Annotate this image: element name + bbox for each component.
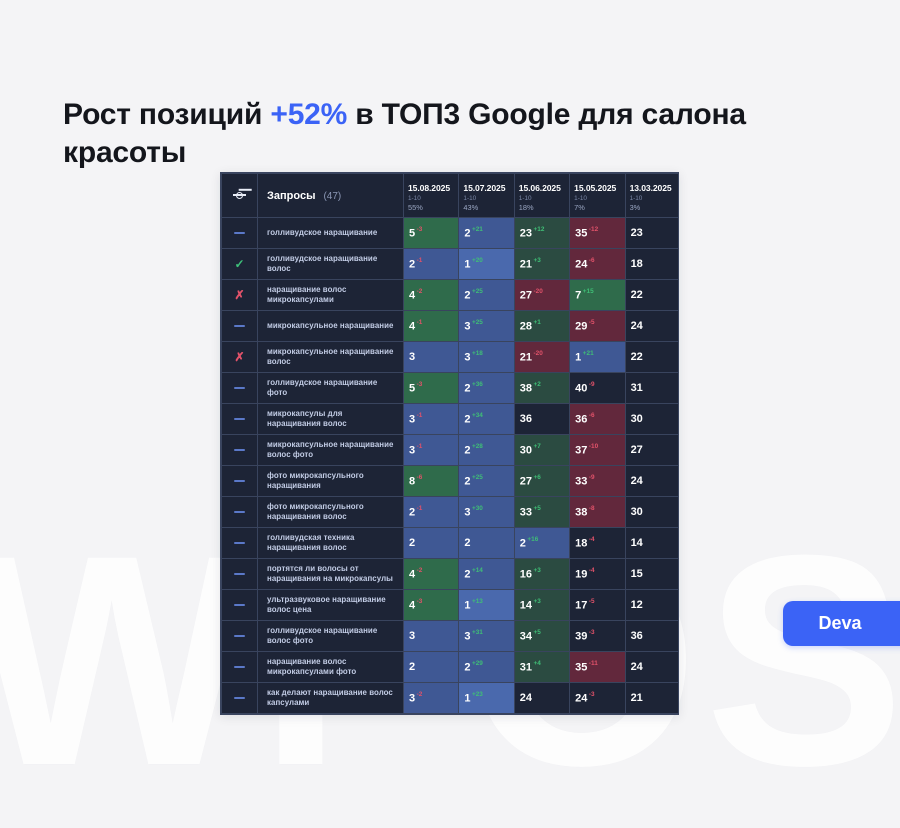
page-title: Рост позиций +52% в ТОП3 Google для сало… (63, 96, 803, 171)
keyword-cell[interactable]: как делают наращивание волос капсулами (258, 683, 404, 714)
position-value: 2 (464, 227, 470, 239)
position-cell[interactable]: 2+29 (459, 652, 514, 683)
keyword-cell[interactable]: микрокапсульное наращивание (258, 311, 404, 342)
position-delta: +1 (534, 319, 541, 326)
keywords-column-header[interactable]: Запросы(47) (258, 174, 404, 218)
date-column-range: 1-10 (630, 195, 679, 202)
deva-cta-button[interactable]: Deva (783, 601, 900, 646)
date-column-percent: 43% (463, 203, 513, 212)
date-column-range: 1-10 (463, 195, 513, 202)
position-value: 31 (631, 382, 643, 394)
position-value: 14 (631, 537, 643, 549)
position-value: 4 (409, 599, 415, 611)
date-column-percent: 55% (408, 203, 458, 212)
position-cell[interactable]: 7+15 (570, 280, 625, 311)
position-value: 3 (464, 630, 470, 642)
date-column-percent: 18% (519, 203, 569, 212)
date-column-date: 15.06.2025 (519, 183, 569, 193)
table-row[interactable]: голливудское наращивание фото5-32+3638+2… (222, 373, 680, 404)
position-delta: +25 (472, 319, 483, 326)
position-value: 3 (464, 320, 470, 332)
position-value: 22 (631, 289, 643, 301)
position-delta: +25 (472, 474, 483, 481)
position-value: 22 (631, 351, 643, 363)
position-value: 28 (520, 320, 532, 332)
status-dash-icon[interactable] (234, 325, 245, 327)
position-delta: +31 (472, 629, 483, 636)
position-delta: +25 (472, 288, 483, 295)
position-cell[interactable]: 24 (514, 683, 569, 714)
position-delta: -9 (589, 381, 595, 388)
row-status-cell[interactable]: ✗ (222, 342, 258, 373)
position-value: 2 (464, 661, 470, 673)
position-cell[interactable]: 3-1 (404, 435, 459, 466)
header-row: Запросы(47) 15.08.20251-1055%15.07.20251… (222, 174, 680, 218)
position-value: 3 (464, 506, 470, 518)
position-cell[interactable]: 40-9 (570, 373, 625, 404)
table-row[interactable]: фото микрокапсульного наращивания8-62+25… (222, 466, 680, 497)
position-cell[interactable]: 3+18 (459, 342, 514, 373)
date-column-header[interactable]: 13.03.20251-103% (625, 174, 679, 218)
position-delta: -8 (589, 505, 595, 512)
position-delta: -12 (589, 226, 598, 233)
position-cell[interactable]: 36-6 (570, 404, 625, 435)
position-cell[interactable]: 22 (625, 342, 679, 373)
position-value: 1 (464, 692, 470, 704)
position-value: 30 (631, 506, 643, 518)
position-cell[interactable]: 27+6 (514, 466, 569, 497)
row-status-cell[interactable]: ✗ (222, 280, 258, 311)
position-value: 34 (520, 630, 532, 642)
position-cell[interactable]: 16+3 (514, 559, 569, 590)
position-value: 5 (409, 227, 415, 239)
position-cell[interactable]: 2+25 (459, 280, 514, 311)
position-delta: -2 (417, 691, 423, 698)
position-cell[interactable]: 2-1 (404, 497, 459, 528)
position-value: 15 (631, 568, 643, 580)
position-value: 5 (409, 382, 415, 394)
position-value: 14 (520, 599, 532, 611)
keyword-cell[interactable]: голливудское наращивание волос фото (258, 621, 404, 652)
keyword-cell[interactable]: портятся ли волосы от наращивания на мик… (258, 559, 404, 590)
position-cell[interactable]: 29-5 (570, 311, 625, 342)
position-cell[interactable]: 2+36 (459, 373, 514, 404)
status-dash-icon[interactable] (234, 387, 245, 389)
position-value: 3 (409, 630, 415, 642)
table-row[interactable]: ✓голливудское наращивание волос2-11+2021… (222, 249, 680, 280)
position-cell[interactable]: 24-3 (570, 683, 625, 714)
position-delta: -1 (417, 257, 423, 264)
position-value: 3 (464, 351, 470, 363)
position-cell[interactable]: 2-1 (404, 249, 459, 280)
position-value: 27 (520, 475, 532, 487)
position-cell[interactable]: 8-6 (404, 466, 459, 497)
position-cell[interactable]: 38+2 (514, 373, 569, 404)
position-delta: +13 (472, 598, 483, 605)
position-cell[interactable]: 2+21 (459, 218, 514, 249)
position-delta: +29 (472, 660, 483, 667)
position-cell[interactable]: 14 (625, 528, 679, 559)
position-cell[interactable]: 2+14 (459, 559, 514, 590)
date-column-date: 15.08.2025 (408, 183, 458, 193)
status-dash-icon[interactable] (234, 232, 245, 234)
status-dash-icon[interactable] (234, 604, 245, 606)
table-row[interactable]: голливудское наращивание5-32+2123+1235-1… (222, 218, 680, 249)
position-cell[interactable]: 3+31 (459, 621, 514, 652)
position-delta: -5 (589, 319, 595, 326)
status-check-icon[interactable]: ✓ (234, 258, 244, 270)
keyword-cell[interactable]: голливудское наращивание фото (258, 373, 404, 404)
position-cell[interactable]: 3-2 (404, 683, 459, 714)
position-value: 2 (409, 258, 415, 270)
position-value: 1 (575, 351, 581, 363)
position-value: 2 (464, 444, 470, 456)
position-cell[interactable]: 17-5 (570, 590, 625, 621)
position-delta: +6 (534, 474, 541, 481)
position-cell[interactable]: 31 (625, 373, 679, 404)
position-cell[interactable]: 4-1 (404, 311, 459, 342)
row-status-cell[interactable] (222, 559, 258, 590)
position-cell[interactable]: 36 (514, 404, 569, 435)
position-cell[interactable]: 36 (625, 621, 679, 652)
position-value: 24 (575, 258, 587, 270)
position-value: 1 (464, 599, 470, 611)
position-cell[interactable]: 2+28 (459, 435, 514, 466)
position-delta: +3 (534, 257, 541, 264)
position-delta: -1 (417, 443, 423, 450)
keyword-cell[interactable]: наращивание волос микрокапсулами (258, 280, 404, 311)
position-value: 3 (409, 413, 415, 425)
position-delta: +21 (472, 226, 483, 233)
position-cell[interactable]: 1+20 (459, 249, 514, 280)
position-delta: -6 (417, 474, 423, 481)
position-cell[interactable]: 37-10 (570, 435, 625, 466)
position-value: 4 (409, 320, 415, 332)
position-delta: +18 (472, 350, 483, 357)
position-delta: +3 (534, 598, 541, 605)
position-delta: -3 (589, 629, 595, 636)
position-value: 33 (520, 506, 532, 518)
status-dash-icon[interactable] (234, 542, 245, 544)
row-status-cell[interactable] (222, 590, 258, 621)
position-delta: -10 (589, 443, 598, 450)
position-value: 21 (520, 351, 532, 363)
position-cell[interactable]: 22 (625, 280, 679, 311)
position-value: 38 (520, 382, 532, 394)
position-value: 35 (575, 227, 587, 239)
position-value: 2 (464, 413, 470, 425)
position-cell[interactable]: 39-3 (570, 621, 625, 652)
keyword-cell[interactable]: фото микрокапсульного наращивания волос (258, 497, 404, 528)
position-cell[interactable]: 21 (625, 683, 679, 714)
position-value: 24 (631, 475, 643, 487)
status-column-header (222, 174, 258, 218)
row-status-cell[interactable] (222, 435, 258, 466)
position-delta: +21 (583, 350, 594, 357)
position-cell[interactable]: 19-4 (570, 559, 625, 590)
date-column-date: 15.07.2025 (463, 183, 513, 193)
keywords-header-label: Запросы (267, 190, 315, 202)
position-delta: -2 (417, 567, 423, 574)
row-status-cell[interactable] (222, 528, 258, 559)
keyword-cell[interactable]: фото микрокапсульного наращивания (258, 466, 404, 497)
status-dash-icon[interactable] (234, 697, 245, 699)
keyword-cell[interactable]: голливудское наращивание волос (258, 249, 404, 280)
position-cell[interactable]: 23+12 (514, 218, 569, 249)
position-delta: -4 (589, 567, 595, 574)
table-row[interactable]: ✗наращивание волос микрокапсулами4-22+25… (222, 280, 680, 311)
position-cell[interactable]: 2 (404, 652, 459, 683)
date-column-range: 1-10 (519, 195, 569, 202)
row-status-cell[interactable] (222, 404, 258, 435)
date-column-header[interactable]: 15.05.20251-107% (570, 174, 625, 218)
position-value: 27 (520, 289, 532, 301)
table-row[interactable]: наращивание волос микрокапсулами фото22+… (222, 652, 680, 683)
headline-accent-percent: +52% (270, 98, 347, 131)
position-cell[interactable]: 3-1 (404, 404, 459, 435)
date-column-header[interactable]: 15.08.20251-1055% (404, 174, 459, 218)
position-cell[interactable]: 3+25 (459, 311, 514, 342)
position-cell[interactable]: 2 (459, 528, 514, 559)
position-cell[interactable]: 30 (625, 404, 679, 435)
position-cell[interactable]: 35-12 (570, 218, 625, 249)
position-cell[interactable]: 5-3 (404, 373, 459, 404)
position-value: 16 (520, 568, 532, 580)
position-value: 2 (520, 537, 526, 549)
keywords-count: (47) (323, 191, 341, 202)
position-cell[interactable]: 3+30 (459, 497, 514, 528)
position-cell[interactable]: 1+23 (459, 683, 514, 714)
status-cross-icon[interactable]: ✗ (234, 289, 244, 301)
row-status-cell[interactable] (222, 683, 258, 714)
position-delta: +15 (583, 288, 594, 295)
position-value: 7 (575, 289, 581, 301)
position-delta: -1 (417, 319, 423, 326)
date-column-header[interactable]: 15.07.20251-1043% (459, 174, 514, 218)
date-column-range: 1-10 (408, 195, 458, 202)
position-value: 4 (409, 568, 415, 580)
status-dash-icon[interactable] (234, 511, 245, 513)
position-cell[interactable]: 34+5 (514, 621, 569, 652)
position-cell[interactable]: 33-9 (570, 466, 625, 497)
table-row[interactable]: голливудское наращивание волос фото33+31… (222, 621, 680, 652)
row-status-cell[interactable]: ✓ (222, 249, 258, 280)
position-cell[interactable]: 14+3 (514, 590, 569, 621)
position-delta: -6 (589, 257, 595, 264)
position-delta: +12 (534, 226, 545, 233)
keyword-cell[interactable]: голливудское наращивание (258, 218, 404, 249)
position-value: 2 (409, 537, 415, 549)
position-value: 2 (464, 475, 470, 487)
position-delta: -3 (417, 226, 423, 233)
keyword-cell[interactable]: микрокапсульное наращивание волос фото (258, 435, 404, 466)
position-delta: +20 (472, 257, 483, 264)
table-row[interactable]: фото микрокапсульного наращивания волос2… (222, 497, 680, 528)
position-delta: +5 (534, 505, 541, 512)
position-value: 37 (575, 444, 587, 456)
position-cell[interactable]: 2+25 (459, 466, 514, 497)
position-value: 3 (409, 692, 415, 704)
position-cell[interactable]: 27 (625, 435, 679, 466)
position-value: 31 (520, 661, 532, 673)
position-cell[interactable]: 23 (625, 218, 679, 249)
position-cell[interactable]: 31+4 (514, 652, 569, 683)
status-dash-icon[interactable] (234, 480, 245, 482)
position-delta: -1 (417, 505, 423, 512)
position-delta: -20 (534, 350, 543, 357)
crosshair-icon (233, 189, 246, 202)
position-value: 2 (464, 382, 470, 394)
position-cell[interactable]: 24 (625, 311, 679, 342)
position-value: 2 (464, 537, 470, 549)
row-status-cell[interactable] (222, 373, 258, 404)
position-delta: -5 (589, 598, 595, 605)
date-column-range: 1-10 (574, 195, 624, 202)
position-value: 24 (520, 692, 532, 704)
position-delta: -2 (417, 288, 423, 295)
table-row[interactable]: микрокапсульное наращивание4-13+2528+129… (222, 311, 680, 342)
position-value: 12 (631, 599, 643, 611)
position-value: 29 (575, 320, 587, 332)
position-value: 17 (575, 599, 587, 611)
status-dash-icon[interactable] (234, 573, 245, 575)
position-delta: -6 (589, 412, 595, 419)
position-cell[interactable]: 24 (625, 466, 679, 497)
position-cell[interactable]: 4-3 (404, 590, 459, 621)
position-value: 36 (631, 630, 643, 642)
position-value: 27 (631, 444, 643, 456)
position-cell[interactable]: 3 (404, 621, 459, 652)
position-value: 40 (575, 382, 587, 394)
status-dash-icon[interactable] (234, 666, 245, 668)
table-row[interactable]: как делают наращивание волос капсулами3-… (222, 683, 680, 714)
position-cell[interactable]: 35-11 (570, 652, 625, 683)
rankings-table-container: Запросы(47) 15.08.20251-1055%15.07.20251… (220, 172, 679, 715)
row-status-cell[interactable] (222, 466, 258, 497)
position-value: 36 (575, 413, 587, 425)
position-value: 30 (520, 444, 532, 456)
position-value: 24 (631, 661, 643, 673)
position-cell[interactable]: 28+1 (514, 311, 569, 342)
rankings-table: Запросы(47) 15.08.20251-1055%15.07.20251… (221, 173, 679, 714)
position-delta: -3 (589, 691, 595, 698)
position-delta: -4 (589, 536, 595, 543)
position-cell[interactable]: 24 (625, 652, 679, 683)
status-cross-icon[interactable]: ✗ (234, 351, 244, 363)
table-body: голливудское наращивание5-32+2123+1235-1… (222, 218, 680, 714)
position-cell[interactable]: 38-8 (570, 497, 625, 528)
position-cell[interactable]: 24-6 (570, 249, 625, 280)
position-cell[interactable]: 27-20 (514, 280, 569, 311)
position-cell[interactable]: 18-4 (570, 528, 625, 559)
table-row[interactable]: ✗микрокапсульное наращивание волос33+182… (222, 342, 680, 373)
position-cell[interactable]: 33+5 (514, 497, 569, 528)
position-delta: -11 (589, 660, 598, 667)
table-row[interactable]: голливудская техника наращивания волос22… (222, 528, 680, 559)
table-header: Запросы(47) 15.08.20251-1055%15.07.20251… (222, 174, 680, 218)
position-cell[interactable]: 4-2 (404, 280, 459, 311)
position-delta: +7 (534, 443, 541, 450)
position-delta: +36 (472, 381, 483, 388)
position-cell[interactable]: 3 (404, 342, 459, 373)
row-status-cell[interactable] (222, 497, 258, 528)
position-delta: +2 (534, 381, 541, 388)
position-delta: +3 (534, 567, 541, 574)
position-value: 2 (464, 568, 470, 580)
date-column-date: 15.05.2025 (574, 183, 624, 193)
row-status-cell[interactable] (222, 621, 258, 652)
position-cell[interactable]: 18 (625, 249, 679, 280)
table-row[interactable]: микрокапсульное наращивание волос фото3-… (222, 435, 680, 466)
position-value: 2 (409, 661, 415, 673)
position-value: 33 (575, 475, 587, 487)
position-cell[interactable]: 2 (404, 528, 459, 559)
position-cell[interactable]: 12 (625, 590, 679, 621)
position-cell[interactable]: 21-20 (514, 342, 569, 373)
position-delta: +30 (472, 505, 483, 512)
position-value: 23 (520, 227, 532, 239)
position-value: 2 (409, 506, 415, 518)
position-delta: -9 (589, 474, 595, 481)
keyword-cell[interactable]: микрокапсульное наращивание волос (258, 342, 404, 373)
table-row[interactable]: портятся ли волосы от наращивания на мик… (222, 559, 680, 590)
position-cell[interactable]: 2+34 (459, 404, 514, 435)
position-value: 3 (409, 351, 415, 363)
position-delta: +23 (472, 691, 483, 698)
position-cell[interactable]: 1+21 (570, 342, 625, 373)
position-value: 8 (409, 475, 415, 487)
position-cell[interactable]: 30+7 (514, 435, 569, 466)
date-column-percent: 3% (630, 203, 679, 212)
position-value: 21 (520, 258, 532, 270)
table-row[interactable]: микрокапсулы для наращивания волос3-12+3… (222, 404, 680, 435)
position-value: 19 (575, 568, 587, 580)
row-status-cell[interactable] (222, 218, 258, 249)
position-cell[interactable]: 30 (625, 497, 679, 528)
position-cell[interactable]: 5-3 (404, 218, 459, 249)
keyword-cell[interactable]: наращивание волос микрокапсулами фото (258, 652, 404, 683)
position-value: 21 (631, 692, 643, 704)
row-status-cell[interactable] (222, 652, 258, 683)
position-cell[interactable]: 15 (625, 559, 679, 590)
date-column-percent: 7% (574, 203, 624, 212)
position-value: 35 (575, 661, 587, 673)
keyword-cell[interactable]: голливудская техника наращивания волос (258, 528, 404, 559)
position-cell[interactable]: 4-2 (404, 559, 459, 590)
position-value: 24 (575, 692, 587, 704)
status-dash-icon[interactable] (234, 635, 245, 637)
date-column-header[interactable]: 15.06.20251-1018% (514, 174, 569, 218)
keyword-cell[interactable]: микрокапсулы для наращивания волос (258, 404, 404, 435)
position-value: 18 (575, 537, 587, 549)
position-delta: -3 (417, 381, 423, 388)
position-value: 1 (464, 258, 470, 270)
position-value: 24 (631, 320, 643, 332)
position-value: 23 (631, 227, 643, 239)
table-row[interactable]: ультразвуковое наращивание волос цена4-3… (222, 590, 680, 621)
status-dash-icon[interactable] (234, 418, 245, 420)
position-cell[interactable]: 1+13 (459, 590, 514, 621)
keyword-cell[interactable]: ультразвуковое наращивание волос цена (258, 590, 404, 621)
date-column-date: 13.03.2025 (630, 183, 679, 193)
status-dash-icon[interactable] (234, 449, 245, 451)
position-value: 39 (575, 630, 587, 642)
row-status-cell[interactable] (222, 311, 258, 342)
position-cell[interactable]: 2+16 (514, 528, 569, 559)
position-cell[interactable]: 21+3 (514, 249, 569, 280)
position-value: 36 (520, 413, 532, 425)
position-value: 18 (631, 258, 643, 270)
